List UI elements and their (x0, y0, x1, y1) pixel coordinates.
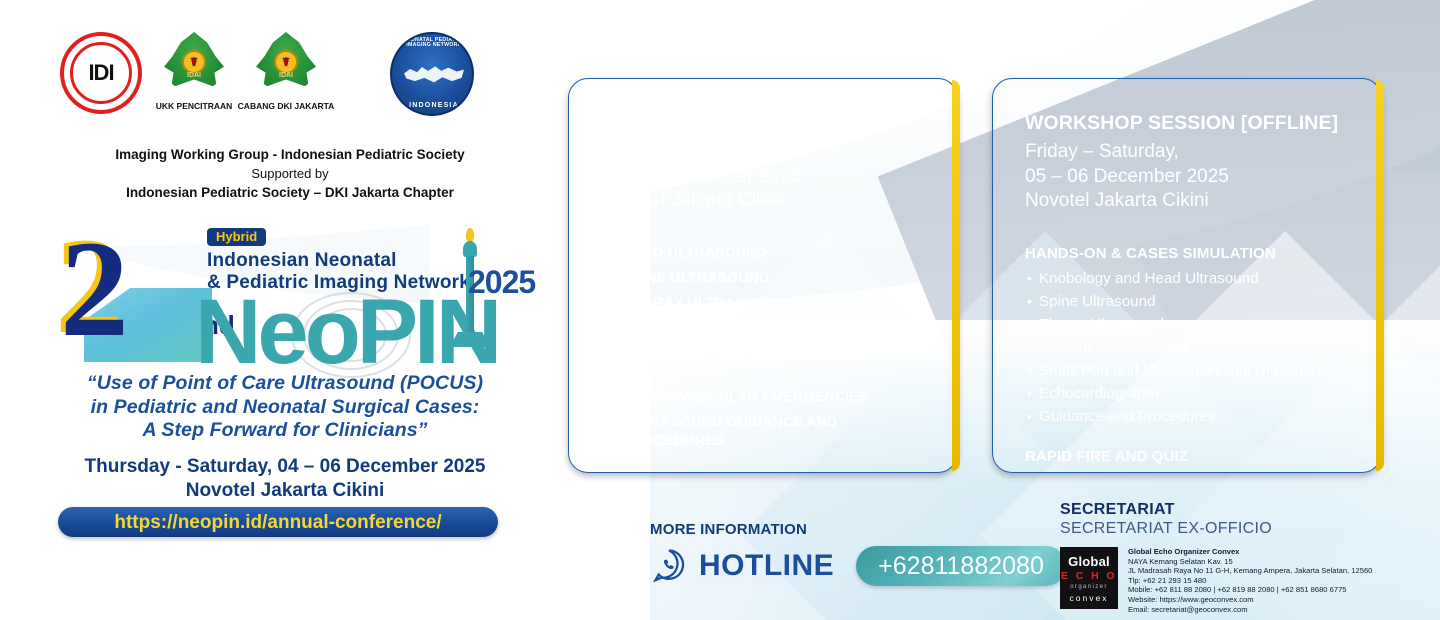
list-item: HEAD ULTRASOUND (601, 244, 931, 263)
list-item: Guidance and Procedures (1025, 407, 1355, 427)
monas-platform (447, 340, 493, 347)
indonesia-map-icon (404, 60, 464, 92)
list-item: ULTRASOUND GUIDANCE AND PROCEDURES (601, 413, 931, 451)
secretariat-contact-line: Global Echo Organizer Convex (1128, 547, 1372, 557)
neopin-seal-logo: NEONATAL PEDIATRIC IMAGING NETWORK INDON… (390, 32, 474, 116)
workshop-footer-note: RAPID FIRE AND QUIZ (1025, 447, 1355, 467)
workshop-card-gold-accent (1376, 80, 1384, 471)
list-item: CARDIOVASCULAR EMERGENCIES (601, 388, 931, 407)
event-logo: 2 2 nd Hybrid Indonesian Neonatal & Pedi… (55, 228, 525, 373)
lecture-card-dates: 04 - 06 December 2025 (601, 165, 931, 190)
more-information-block: MORE INFORMATION HOTLINE +62811882080 (650, 522, 1050, 592)
neopin-seal-arc-top: NEONATAL PEDIATRIC IMAGING NETWORK (392, 38, 474, 48)
hybrid-badge: Hybrid (207, 228, 266, 246)
workshop-section-heading: HANDS-ON & CASES SIMULATION (1025, 244, 1355, 264)
idai-cabang-dki-jakarta-logo: ☤ IDAI CABANG DKI JAKARTA (240, 20, 332, 125)
list-item: THORAX ULTRASOUND (601, 294, 931, 313)
list-item: Knobology and Head Ultrasound (1025, 269, 1355, 289)
website-url-button[interactable]: https://neopin.id/annual-conference/ (58, 507, 498, 537)
monas-flame (466, 228, 474, 242)
secretariat-contact-line: Email: secretariat@geoconvex.com (1128, 605, 1372, 615)
global-echo-logo-echo: E C H O (1061, 571, 1117, 582)
workshop-card-days: Friday – Saturday, (1025, 140, 1355, 165)
event-tagline: “Use of Point of Care Ultrasound (POCUS)… (45, 372, 525, 443)
global-echo-logo-convex: convex (1070, 594, 1109, 603)
workshop-session-card: WORKSHOP SESSION [OFFLINE] Friday – Satu… (992, 78, 1382, 473)
secretariat-contact-line: Website: https://www.geoconvex.com (1128, 595, 1372, 605)
hotline-number-label: +62811882080 (878, 554, 1044, 579)
lecture-card-days: Thursday – Saturday, (601, 140, 931, 165)
global-echo-logo-global: Global (1068, 555, 1110, 568)
list-item-continuation: ULTRASOUND (601, 363, 931, 382)
workshop-topic-list: Knobology and Head Ultrasound Spine Ultr… (1025, 269, 1355, 427)
workshop-card-title: WORKSHOP SESSION [OFFLINE] (1025, 111, 1355, 135)
event-venue: Novotel Jakarta Cikini (45, 479, 525, 503)
list-item: SMALL PART AND MUSCULOSKELETAL (601, 344, 931, 363)
idai-disc-icon: ☤ (182, 50, 206, 74)
secretariat-title: SECRETARIAT (1060, 500, 1420, 519)
secretariat-subtitle: SECRETARIAT EX-OFFICIO (1060, 519, 1420, 540)
event-year: 2025 (468, 266, 535, 298)
organizer-line-2: Supported by (55, 165, 525, 184)
tagline-line-2: in Pediatric and Neonatal Surgical Cases… (45, 396, 525, 420)
list-item: Thorax Ultrasound (1025, 315, 1355, 335)
list-item: Spine Ultrasound (1025, 292, 1355, 312)
lecture-card-gold-accent (952, 80, 960, 471)
secretariat-contact-line: Tlp: +62 21 293 15 480 (1128, 576, 1372, 586)
list-item: SPINE ULTRASOUND (601, 269, 931, 288)
organizer-logo-row: IDI ☤ IDAI UKK PENCITRAAN ☤ IDAI CABANG … (55, 20, 455, 125)
network-name-line-1: Indonesian Neonatal (207, 250, 397, 272)
workshop-card-dates: 05 – 06 December 2025 (1025, 165, 1355, 190)
idai-disc-icon: ☤ (274, 50, 298, 74)
event-dates: Thursday - Saturday, 04 – 06 December 20… (45, 455, 525, 479)
organizer-text-block: Imaging Working Group - Indonesian Pedia… (55, 145, 525, 203)
secretariat-contact-line: NAYA Kemang Selatan Kav. 15 (1128, 557, 1372, 567)
idai-mark-label: IDAI (148, 72, 240, 79)
list-item: Echocardiography (1025, 384, 1355, 404)
secretariat-block: SECRETARIAT SECRETARIAT EX-OFFICIO Globa… (1060, 500, 1420, 614)
list-item: Small Part and Musculoskeletal Ultrasoun… (1025, 361, 1355, 381)
idi-logo-inner-ring: IDI (70, 42, 132, 104)
tagline-line-1: “Use of Point of Care Ultrasound (POCUS) (45, 372, 525, 396)
list-item: ABDOMEN ULTRASOUND (601, 319, 931, 338)
neopin-seal-arc-bottom: INDONESIA (392, 102, 474, 109)
hotline-number-button[interactable]: +62811882080 (856, 546, 1066, 586)
organizer-line-1: Imaging Working Group - Indonesian Pedia… (55, 145, 525, 165)
hotline-label: HOTLINE (699, 551, 834, 581)
secretariat-contact-line: JL Madrasah Raya No 11 G-H, Kemang Amper… (1128, 566, 1372, 576)
lecture-card-title: LECTURE SESSION [HYBRID] (601, 111, 931, 135)
more-information-label: MORE INFORMATION (650, 522, 1050, 537)
organizer-line-3: Indonesian Pediatric Society – DKI Jakar… (55, 183, 525, 203)
idai-caption-cabang: CABANG DKI JAKARTA (230, 102, 342, 111)
lecture-card-venue: Novotel Jakarta Cikini (601, 189, 931, 214)
idai-mark-label: IDAI (240, 72, 332, 79)
global-echo-logo-organizer: organizer (1070, 584, 1108, 590)
global-echo-convex-logo: Global E C H O organizer convex (1060, 547, 1118, 609)
tagline-line-3: A Step Forward for Clinicians” (45, 419, 525, 443)
idi-logo: IDI (60, 32, 142, 114)
monas-top (463, 241, 477, 257)
event-when-block: Thursday - Saturday, 04 – 06 December 20… (45, 455, 525, 503)
idi-logo-label: IDI (88, 62, 113, 84)
list-item: Abdominal Ultrasound (1025, 338, 1355, 358)
phone-chat-icon (650, 547, 688, 585)
idai-ukk-pencitraan-logo: ☤ IDAI UKK PENCITRAAN (148, 20, 240, 125)
workshop-card-venue: Novotel Jakarta Cikini (1025, 189, 1355, 214)
lecture-session-card: LECTURE SESSION [HYBRID] Thursday – Satu… (568, 78, 958, 473)
website-url-label: https://neopin.id/annual-conference/ (114, 513, 441, 532)
lecture-topic-list: HEAD ULTRASOUND SPINE ULTRASOUND THORAX … (601, 244, 931, 451)
secretariat-contact-lines: Global Echo Organizer Convex NAYA Kemang… (1128, 547, 1372, 614)
secretariat-contact-line: Mobile: +62 811 88 2080 | +62 819 88 208… (1128, 585, 1372, 595)
